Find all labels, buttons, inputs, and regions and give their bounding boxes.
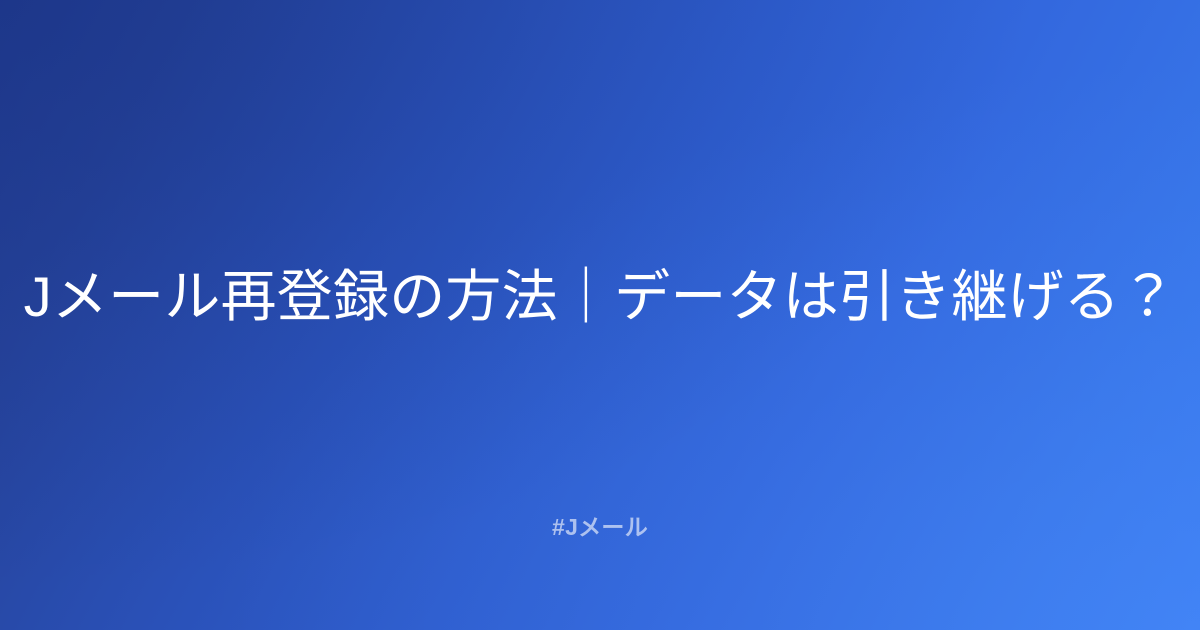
footer-container: #Jメール xyxy=(0,512,1200,543)
page-title: Jメール再登録の方法｜データは引き継げる？ xyxy=(24,261,1177,334)
og-card: Jメール再登録の方法｜データは引き継げる？ #Jメール xyxy=(0,0,1200,630)
og-card-content: Jメール再登録の方法｜データは引き継げる？ #Jメール xyxy=(0,0,1200,630)
hashtag-label: #Jメール xyxy=(552,512,648,543)
